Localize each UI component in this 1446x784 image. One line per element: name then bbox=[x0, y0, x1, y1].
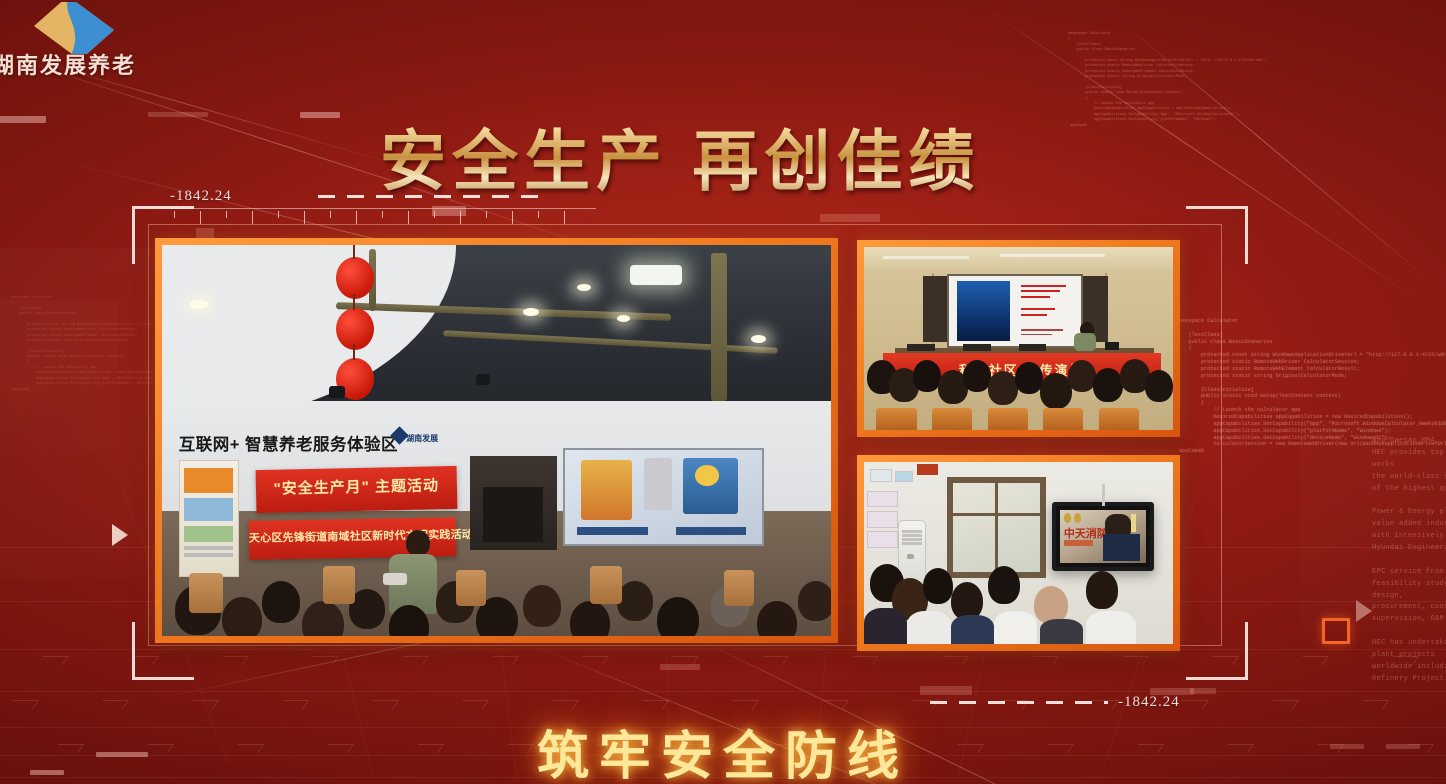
brand-name: 湖南发展养老 bbox=[0, 48, 136, 80]
photo-tv-room[interactable]: 中天消防区队 bbox=[857, 455, 1180, 651]
code-overlay-header: namespace Calculator { [TestClass] publi… bbox=[1068, 32, 1266, 129]
wall-logo-text: 湖南发展 bbox=[406, 433, 438, 444]
data-chip bbox=[920, 686, 972, 695]
data-chip bbox=[148, 112, 208, 117]
lantern-decor bbox=[336, 308, 374, 350]
page-title: 安全生产 再创佳绩 bbox=[380, 108, 980, 204]
data-chip bbox=[1190, 688, 1216, 694]
data-chip bbox=[0, 116, 46, 123]
chevron-texture-row bbox=[0, 700, 1446, 714]
red-banner-top-text: "安全生产月" 主题活动 bbox=[255, 473, 456, 498]
measure-dashline-top bbox=[318, 195, 550, 198]
projection-screen bbox=[563, 448, 764, 546]
photo-content: 和谐社区 宣传演练 bbox=[864, 247, 1173, 430]
wall-sign-text: 互联网+ 智慧养老服务体验区 bbox=[179, 431, 398, 455]
wall-note bbox=[867, 531, 898, 547]
data-chip bbox=[300, 112, 340, 118]
wall-note bbox=[867, 511, 898, 527]
red-banner-top: "安全生产月" 主题活动 bbox=[255, 466, 457, 513]
photo-main-lecture-inner: 互联网+ 智慧养老服务体验区 湖南发展 "安全生产月" 主题活动 天 bbox=[162, 245, 831, 636]
lantern-decor bbox=[336, 257, 374, 299]
diamond-logo-icon bbox=[22, 2, 114, 54]
play-icon[interactable] bbox=[112, 524, 128, 546]
room-window bbox=[947, 477, 1046, 579]
right-margin-text: and Daesan MMA, HEC provides top class w… bbox=[1372, 436, 1446, 686]
photo-tv-room-inner: 中天消防区队 bbox=[864, 462, 1173, 644]
wall-poster bbox=[179, 460, 239, 577]
wall-note bbox=[867, 491, 898, 507]
photo-content: 互联网+ 智慧养老服务体验区 湖南发展 "安全生产月" 主题活动 天 bbox=[162, 245, 831, 636]
ruler-highlight bbox=[432, 206, 466, 216]
data-chip bbox=[820, 214, 880, 222]
brand-logo[interactable] bbox=[22, 2, 114, 54]
wall-note bbox=[870, 469, 892, 482]
photo-auditorium[interactable]: 和谐社区 宣传演练 bbox=[857, 240, 1180, 437]
play-icon[interactable] bbox=[1356, 600, 1372, 622]
measure-label-bottom: -1842.24 bbox=[1118, 694, 1180, 711]
accent-square bbox=[1322, 618, 1350, 644]
presentation-screen bbox=[947, 274, 1083, 347]
bottom-slogan: 筑牢安全防线 bbox=[0, 714, 1446, 784]
photo-main-lecture[interactable]: 互联网+ 智慧养老服务体验区 湖南发展 "安全生产月" 主题活动 天 bbox=[155, 238, 838, 643]
tv-screen: 中天消防区队 bbox=[1060, 510, 1146, 563]
data-chip bbox=[660, 664, 700, 670]
presenter-head bbox=[406, 530, 430, 556]
ghost-pane-left-2 bbox=[0, 300, 118, 450]
measure-label-top: -1842.24 bbox=[170, 188, 232, 205]
presentation-slide: 湖南发展养老 namespace Calculator { [TestClass… bbox=[0, 0, 1446, 784]
wall-tv: 中天消防区队 bbox=[1052, 502, 1154, 571]
measure-dashline-bottom bbox=[930, 701, 1108, 704]
photo-auditorium-inner: 和谐社区 宣传演练 bbox=[864, 247, 1173, 430]
wall-note bbox=[895, 471, 914, 482]
photo-content: 中天消防区队 bbox=[864, 462, 1173, 644]
